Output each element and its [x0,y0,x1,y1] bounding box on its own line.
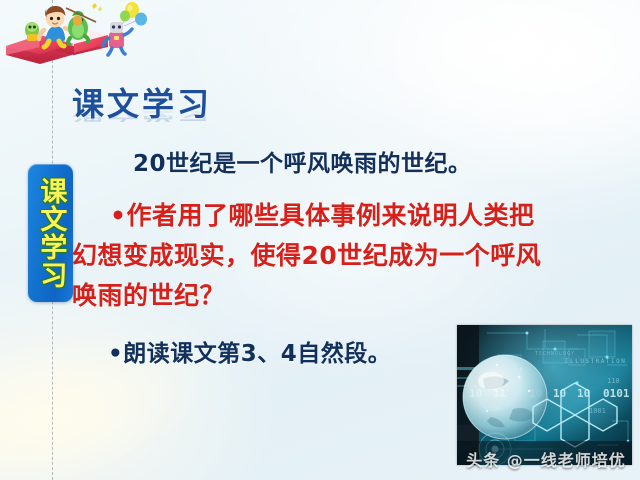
question-line-1: •作者用了哪些具体事例来说明人类把 [110,196,535,232]
page-title: 课文学习 课文学习 [72,88,212,136]
slide-canvas: 课文学习 课文学习 课文学习 20世纪是一个呼风唤雨的世纪。 •作者用了哪些具体… [0,0,640,480]
svg-text:0101: 0101 [603,387,630,400]
task-bullet: • [108,341,123,367]
background-sheen-left [0,293,237,480]
question-bullet: • [110,201,126,230]
svg-text:110: 110 [607,377,620,385]
task-line: •朗读课文第3、4自然段。 [108,334,391,368]
question-line-3: 唤雨的世纪？ [72,276,225,312]
statement-line: 20世纪是一个呼风唤雨的世纪。 [133,144,472,178]
question-line-1-text: 作者用了哪些具体事例来说明人类把 [126,201,534,230]
page-title-reflection: 课文学习 [72,105,212,122]
boy-on-flying-book-illustration [4,2,156,80]
side-tab-course-study[interactable]: 课文学习 [28,164,73,302]
svg-text:ILLUSTRATION: ILLUSTRATION [565,358,626,365]
question-line-2: 幻想变成现实，使得20世纪成为一个呼风 [72,236,541,272]
technology-globe-image: ILLUSTRATION TECHNOLOGY 10 11 10 10 10 0… [457,325,632,465]
side-tab-label: 课文学习 [37,177,65,289]
task-text: 朗读课文第3、4自然段。 [123,341,391,367]
svg-text:TECHNOLOGY: TECHNOLOGY [535,351,575,357]
